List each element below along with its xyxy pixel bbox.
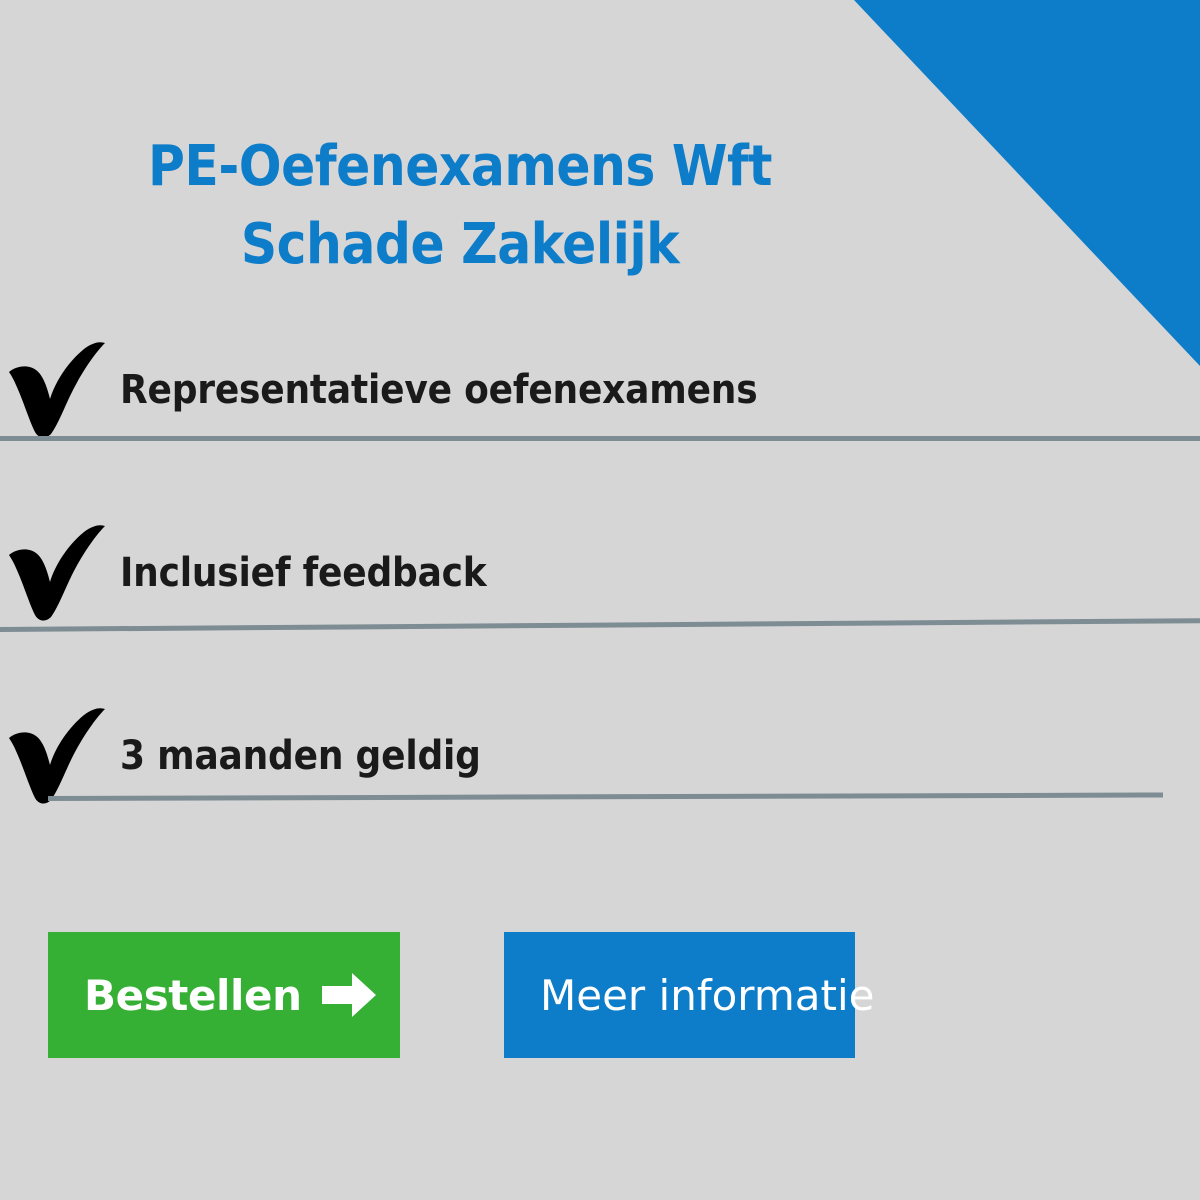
more-info-button-label: Meer informatie [540,971,874,1020]
more-info-button[interactable]: Meer informatie [504,932,855,1058]
promo-card: PE-Oefenexamens Wft Schade Zakelijk Repr… [0,0,1200,1200]
feature-label: Representatieve oefenexamens [120,368,757,412]
checkmark-icon [0,708,120,804]
checkmark-icon [0,342,120,438]
cta-button-row: Bestellen Meer informatie [48,932,855,1058]
order-button-label: Bestellen [84,971,302,1020]
page-title-line-1: PE-Oefenexamens Wft [0,128,920,206]
feature-list: Representatieve oefenexamens Inclusief f… [0,340,1200,889]
feature-label: 3 maanden geldig [120,734,481,778]
checkmark-icon [0,525,120,621]
arrow-right-icon [322,973,376,1017]
feature-row-3: 3 maanden geldig [0,706,1200,889]
page-title-line-2: Schade Zakelijk [0,206,920,284]
page-title: PE-Oefenexamens Wft Schade Zakelijk [0,128,920,284]
feature-row-1: Representatieve oefenexamens [0,340,1200,523]
order-button[interactable]: Bestellen [48,932,400,1058]
feature-row-2: Inclusief feedback [0,523,1200,706]
feature-label: Inclusief feedback [120,551,487,595]
feature-divider [0,436,1200,441]
